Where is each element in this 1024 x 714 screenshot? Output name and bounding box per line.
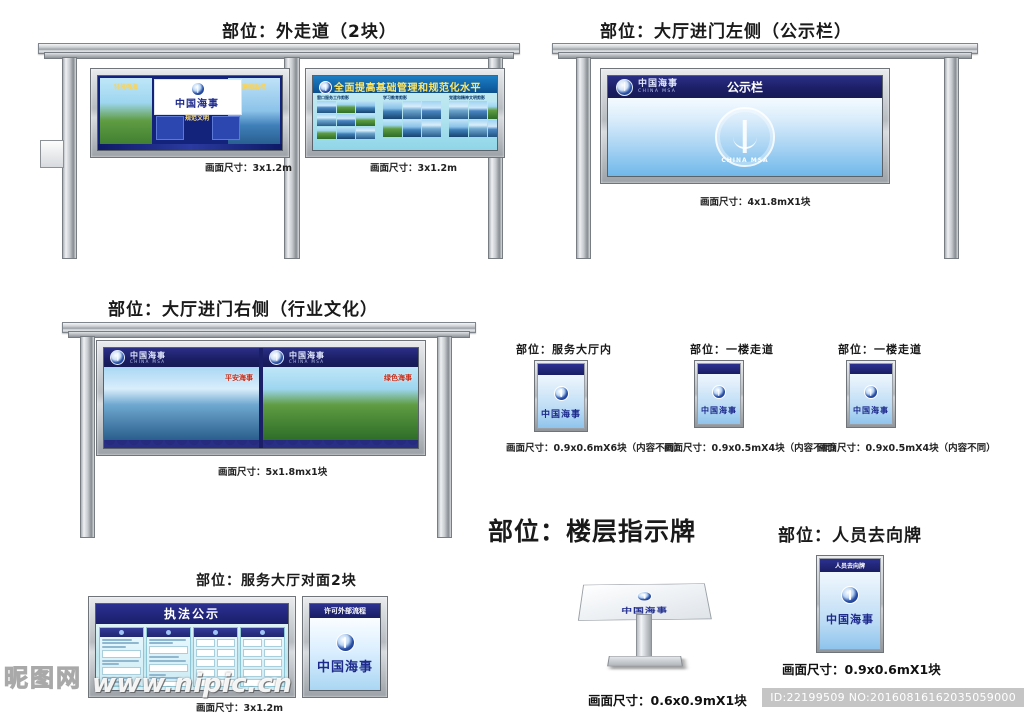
msa-brand-cn: 中国海事 [130,351,166,359]
msa-emblem-icon [110,350,125,365]
section-title-corridor-sign-a: 部位：一楼走道 [690,341,774,357]
board1-bottom-strip [98,144,282,150]
staff-whereabouts-size: 画面尺寸：0.9x0.6mX1块 [782,659,941,678]
corridor-sign-a-logo: 中国海事 [698,384,740,416]
culture-panel-2-photo: 绿色海事 [263,367,418,440]
msa-brand-cn: 中国海事 [289,351,325,359]
watermark-id: ID:22199509 NO:20160816162035059000 [762,688,1024,707]
culture-board-post-left [80,336,95,538]
outer-corridor-board-2[interactable]: 全面提高基础管理和规范化水平 窗口服务工作剪影 学习教育剪影 [305,68,505,158]
service-hall-sign-cap [538,364,584,375]
section-title-corridor-sign-b: 部位：一楼走道 [838,341,922,357]
service-hall-sign-logo: 中国海事 [538,386,584,420]
section-title-hall-right: 部位：大厅进门右侧（行业文化） [108,295,378,320]
floor-directory-sign[interactable]: 中国海事 [572,562,722,672]
service-hall-sign[interactable]: 中国海事 [534,360,588,432]
first-floor-corridor-sign-a[interactable]: 中国海事 [694,360,744,428]
staff-whereabouts-cap: 人员去向牌 [820,559,880,572]
law-disclosure-header: 执法公示 [96,604,288,624]
msa-brand-cn: 中国海事 [638,80,678,89]
board2-group-1-title: 窗口服务工作剪影 [317,96,375,100]
culture-board-size: 画面尺寸：5x1.8mx1块 [218,464,327,478]
msa-brand-en: CHINA MSA [289,360,325,364]
corridor-sign-b-logo: 中国海事 [850,384,892,416]
floor-directory-column [636,614,652,662]
outer-corridor-board-1-size: 画面尺寸：3x1.2m [205,160,292,174]
permit-process-header: 许可外部流程 [310,604,380,618]
msa-round-seal-icon [864,385,878,399]
outer-corridor-canopy-edge [44,52,514,59]
floor-directory-base [607,656,683,666]
msa-round-seal-icon [712,385,726,399]
outer-corridor-post-left [62,57,77,259]
outer-corridor-board-1[interactable]: 科技强海 高效服务 中国海事 规范文明 依法行政 服务人民 [90,68,290,158]
notice-board-post-right [944,57,959,259]
staff-whereabouts-brand: 中国海事 [820,611,880,627]
board1-emblem [191,82,205,96]
board2-emblem [319,81,332,94]
section-title-hall-left: 部位：大厅进门左侧（公示栏） [600,17,852,42]
watermark-site-url: www.nipic.cn [92,669,292,699]
msa-brand-en: CHINA MSA [638,90,678,95]
corridor-sign-b-size: 画面尺寸：0.9x0.5mX4块（内容不同） [818,440,996,454]
msa-watermark-label: CHINA MSA [721,157,768,164]
board1-subpanel-right [212,116,240,140]
section-title-outer-corridor: 部位：外走道（2块） [222,17,397,42]
signage-layout-sheet: 部位：外走道（2块） 科技强海 高效服务 中国海事 规范文明 依法行政 服务人民 [0,0,1024,707]
corridor-sign-b-brand: 中国海事 [850,405,892,416]
culture-board-post-right [437,336,452,538]
culture-panel-1-caption: 平安海事 [225,373,253,383]
corridor-sign-a-cap [698,364,740,374]
culture-panel-2-header: 中国海事 CHINA MSA [263,348,418,367]
permit-process-brand: 中国海事 [317,656,373,675]
msa-round-seal-icon [554,386,569,401]
msa-emblem-icon [269,350,284,365]
service-hall-opposite-size: 画面尺寸：3x1.2m [196,700,283,714]
section-title-service-hall-sign: 部位：服务大厅内 [516,341,612,357]
corridor-sign-a-size: 画面尺寸：0.9x0.5mX4块（内容不同） [664,440,842,454]
wall-mounted-box [40,140,64,168]
culture-panel-1: 中国海事 CHINA MSA 平安海事 [104,348,259,448]
msa-round-seal-icon [841,586,859,604]
board1-caption-left: 科技强海 [102,82,150,91]
culture-board-canopy-edge [68,331,470,338]
staff-whereabouts-board[interactable]: 人员去向牌 中国海事 [816,555,884,653]
board2-headline: 全面提高基础管理和规范化水平 [334,79,481,94]
culture-panel-1-wave [104,440,259,448]
board2-group-2-title: 学习教育剪影 [383,96,441,100]
msa-round-seal-icon [336,633,355,652]
notice-board-canopy-edge [558,52,972,59]
outer-corridor-board-2-size: 画面尺寸：3x1.2m [370,160,457,174]
culture-panel-2-wave [263,440,418,448]
culture-panel-1-header: 中国海事 CHINA MSA [104,348,259,367]
section-title-staff-whereabouts: 部位：人员去向牌 [778,521,922,546]
board2-group-3: 党建和精神文明剪影 [449,96,498,137]
notice-board-header: 中国海事 CHINA MSA 公示栏 [608,76,882,98]
msa-brand-en: CHINA MSA [130,360,166,364]
section-title-floor-directory: 部位：楼层指示牌 [488,512,696,548]
staff-whereabouts-logo: 中国海事 [820,586,880,627]
notice-board-size: 画面尺寸：4x1.8mX1块 [700,194,810,208]
msa-emblem-icon [616,79,633,96]
watermark-site-cn: 昵图网 [4,658,82,693]
permit-process-board[interactable]: 许可外部流程 中国海事 [302,596,388,698]
corridor-sign-b-cap [850,364,892,374]
culture-panel-2-caption: 绿色海事 [384,373,412,383]
culture-panel-1-photo: 平安海事 [104,367,259,440]
culture-board[interactable]: 中国海事 CHINA MSA 平安海事 中国海事 CHINA MSA [96,340,426,456]
board2-group-2: 学习教育剪影 [383,96,441,137]
service-hall-sign-brand: 中国海事 [538,407,584,420]
board1-center-sub: 规范文明 [184,115,210,123]
msa-round-seal-icon [637,591,652,601]
notice-board-post-left [576,57,591,259]
corridor-sign-a-brand: 中国海事 [698,405,740,416]
first-floor-corridor-sign-b[interactable]: 中国海事 [846,360,896,428]
notice-board[interactable]: 中国海事 CHINA MSA 公示栏 CHINA MSA [600,68,890,184]
culture-panel-2: 中国海事 CHINA MSA 绿色海事 [263,348,418,448]
board2-group-1: 窗口服务工作剪影 [317,96,375,139]
service-hall-sign-size: 画面尺寸：0.9x0.6mX6块（内容不同） [506,440,684,454]
floor-directory-size: 画面尺寸：0.6x0.9mX1块 [588,690,747,709]
section-title-service-hall-opposite: 部位：服务大厅对面2块 [196,570,357,590]
board1-subpanel-left [156,116,184,140]
notice-board-title: 公示栏 [727,79,763,96]
board2-group-3-title: 党建和精神文明剪影 [449,96,498,100]
notice-board-body: CHINA MSA [608,98,882,176]
board1-brand: 中国海事 [154,95,240,110]
